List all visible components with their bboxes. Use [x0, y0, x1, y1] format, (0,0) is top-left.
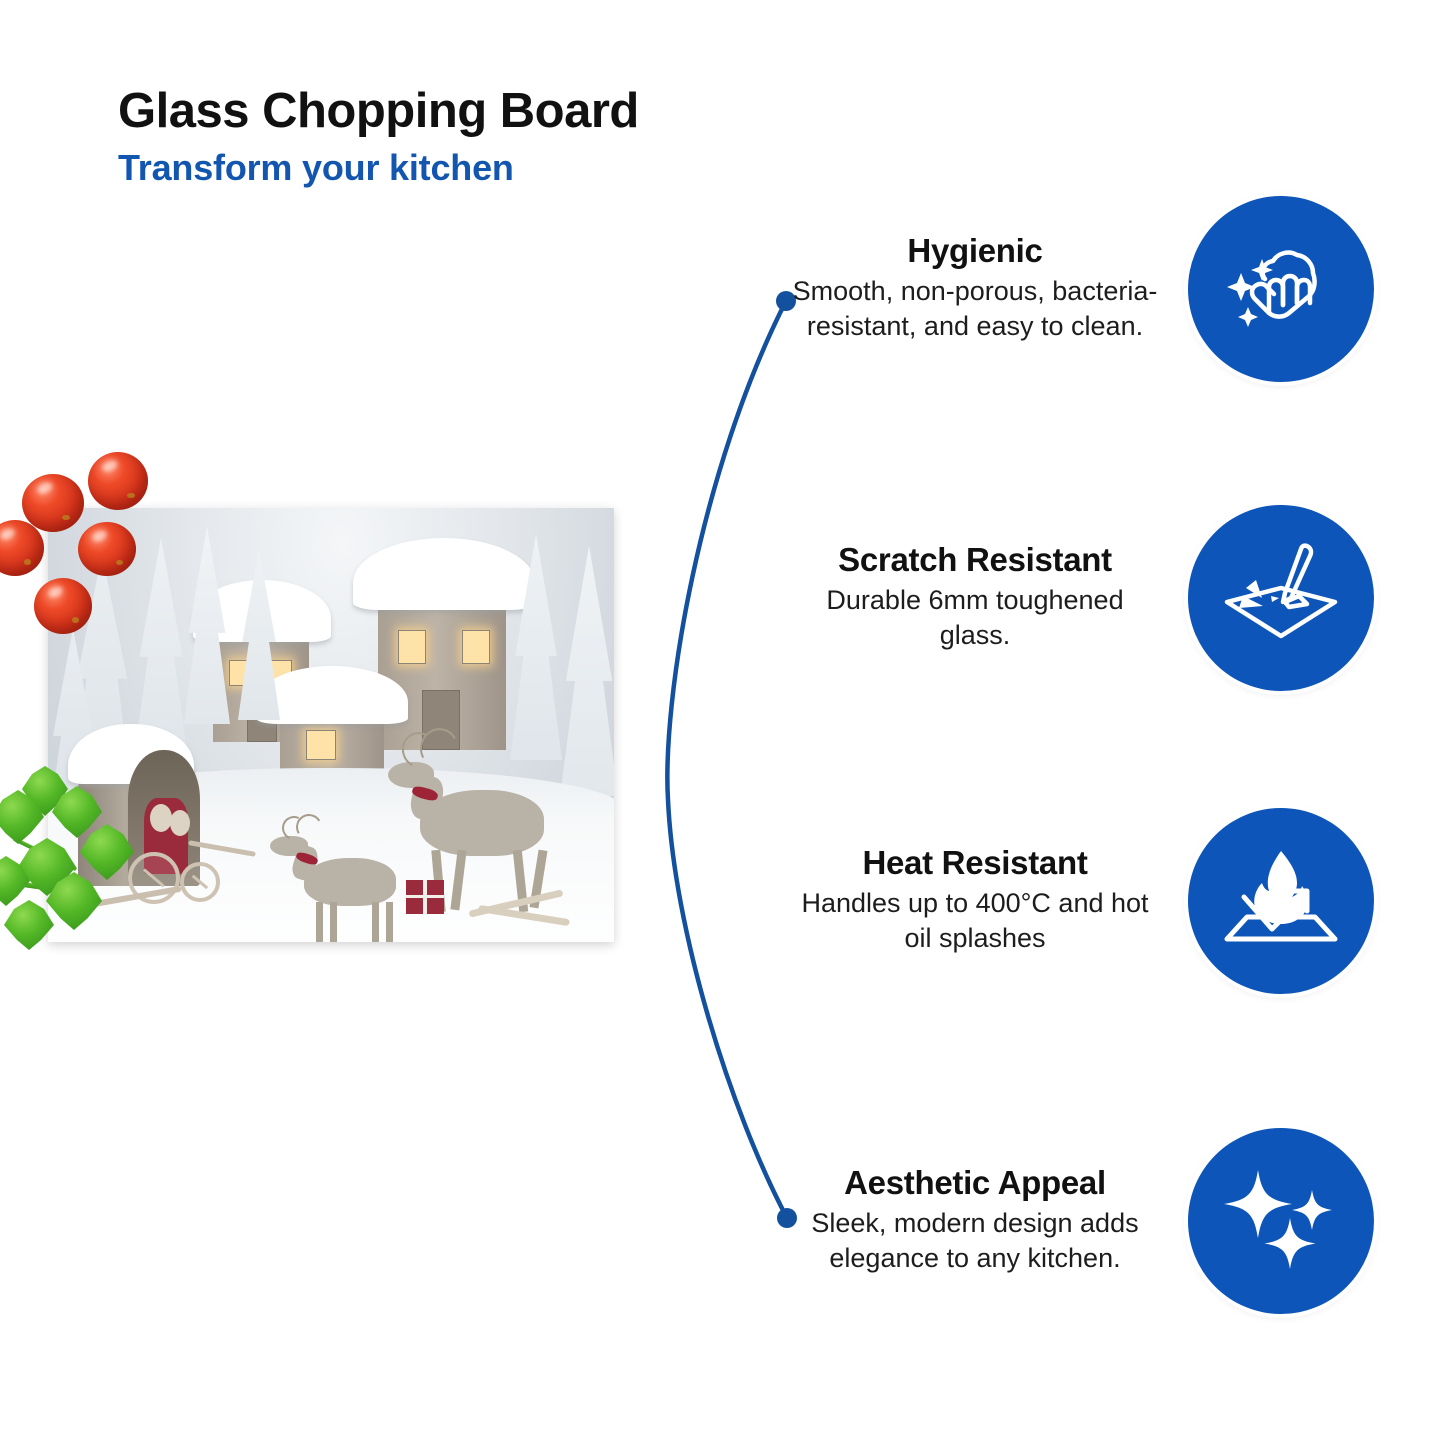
feature-description: Durable 6mm toughened glass. [790, 583, 1160, 653]
feature-scratch-resistant: Scratch Resistant Durable 6mm toughened … [790, 505, 1374, 691]
gift-box [406, 880, 444, 914]
feature-description: Smooth, non-porous, bacteria-resistant, … [790, 274, 1160, 344]
feature-aesthetic-appeal: Aesthetic Appeal Sleek, modern design ad… [790, 1128, 1374, 1314]
feature-title: Scratch Resistant [790, 542, 1160, 579]
page-subtitle: Transform your kitchen [118, 149, 639, 187]
parsley-bunch [0, 760, 178, 950]
flame-deflect-arrow-icon [1188, 808, 1374, 994]
feature-hygienic: Hygienic Smooth, non-porous, bacteria-re… [790, 196, 1374, 382]
cherry-tomato [34, 578, 92, 634]
infographic-page: Glass Chopping Board Transform your kitc… [0, 0, 1445, 1445]
product-image-composition [0, 430, 660, 990]
reindeer-small [260, 820, 400, 942]
feature-title: Heat Resistant [790, 845, 1160, 882]
feature-title: Aesthetic Appeal [790, 1165, 1160, 1202]
feature-description: Sleek, modern design adds elegance to an… [790, 1206, 1160, 1276]
feature-description: Handles up to 400°C and hot oil splashes [790, 886, 1160, 956]
cherry-tomato [78, 522, 136, 576]
sparkles-icon [1188, 1128, 1374, 1314]
cherry-tomato [22, 474, 84, 532]
cherry-tomato [88, 452, 148, 510]
knife-impact-surface-icon [1188, 505, 1374, 691]
connector-path [667, 301, 787, 1218]
feature-title: Hygienic [790, 233, 1160, 270]
feature-heat-resistant: Heat Resistant Handles up to 400°C and h… [790, 808, 1374, 994]
house-right [378, 590, 506, 750]
header: Glass Chopping Board Transform your kitc… [118, 86, 639, 187]
page-title: Glass Chopping Board [118, 86, 639, 137]
hand-wipe-sparkle-icon [1188, 196, 1374, 382]
cart-wheel [180, 862, 220, 902]
